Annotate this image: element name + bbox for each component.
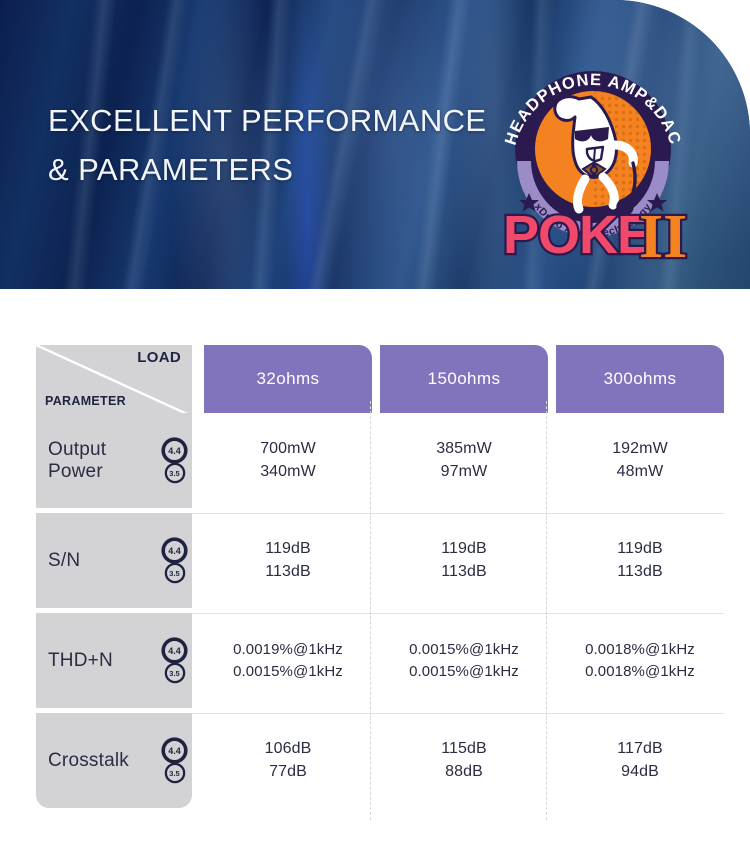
value-single-ended: 97mW bbox=[441, 463, 488, 481]
page-title: EXCELLENT PERFORMANCE & PARAMETERS bbox=[48, 96, 488, 194]
output-badges: 4.4 3.5 bbox=[163, 639, 186, 682]
corner-load-label: LOAD bbox=[137, 349, 181, 366]
value-single-ended: 0.0015%@1kHz bbox=[409, 663, 519, 680]
badge-3.5mm: 3.5 bbox=[166, 564, 184, 582]
cell-output-power-300ohms: 192mW 48mW bbox=[556, 413, 724, 508]
value-balanced: 192mW bbox=[612, 440, 668, 458]
row-label-thd-n: THD+N 4.4 3.5 bbox=[36, 613, 192, 708]
row-label-line-1: Output bbox=[48, 439, 106, 460]
value-single-ended: 340mW bbox=[260, 463, 316, 481]
logo-graphic: HEADPHONE AMP&DAC xDuoo Audio technology bbox=[487, 53, 699, 265]
table-row: Crosstalk 4.4 3.5 106dB 77dB 115dB 88dB … bbox=[36, 713, 724, 808]
column-header-150ohms: 150ohms bbox=[380, 345, 548, 413]
value-single-ended: 0.0015%@1kHz bbox=[233, 663, 343, 680]
cell-s-n-150ohms: 119dB 113dB bbox=[380, 513, 548, 608]
logo-wordmark-main: POKE bbox=[503, 205, 652, 265]
row-label-line-2: Power bbox=[48, 461, 103, 482]
value-balanced: 0.0019%@1kHz bbox=[233, 641, 343, 658]
cell-output-power-150ohms: 385mW 97mW bbox=[380, 413, 548, 508]
value-single-ended: 48mW bbox=[617, 463, 664, 481]
value-balanced: 0.0015%@1kHz bbox=[409, 641, 519, 658]
table-row: S/N 4.4 3.5 119dB 113dB 119dB 113dB 119d… bbox=[36, 513, 724, 608]
column-header-300ohms: 300ohms bbox=[556, 345, 724, 413]
specifications-table: LOAD PARAMETER 32ohms 150ohms 300ohms Ou… bbox=[36, 345, 724, 808]
output-badges: 4.4 3.5 bbox=[163, 539, 186, 582]
value-balanced: 385mW bbox=[436, 440, 492, 458]
row-label-crosstalk: Crosstalk 4.4 3.5 bbox=[36, 713, 192, 808]
value-balanced: 119dB bbox=[617, 540, 663, 558]
value-balanced: 115dB bbox=[441, 740, 487, 758]
corner-parameter-label: PARAMETER bbox=[45, 394, 126, 408]
value-single-ended: 94dB bbox=[621, 763, 659, 781]
badge-4.4mm: 4.4 bbox=[163, 539, 186, 562]
value-balanced: 0.0018%@1kHz bbox=[585, 641, 695, 658]
page-title-line-1: EXCELLENT PERFORMANCE bbox=[48, 96, 488, 145]
row-label-text: THD+N bbox=[48, 650, 161, 672]
badge-3.5mm: 3.5 bbox=[166, 664, 184, 682]
value-balanced: 106dB bbox=[265, 740, 312, 758]
row-label-s-n: S/N 4.4 3.5 bbox=[36, 513, 192, 608]
poke2-logo: HEADPHONE AMP&DAC xDuoo Audio technology bbox=[487, 53, 699, 265]
value-single-ended: 77dB bbox=[269, 763, 307, 781]
cell-s-n-32ohms: 119dB 113dB bbox=[204, 513, 372, 608]
value-balanced: 117dB bbox=[617, 740, 663, 758]
cell-output-power-32ohms: 700mW 340mW bbox=[204, 413, 372, 508]
table-row: THD+N 4.4 3.5 0.0019%@1kHz 0.0015%@1kHz … bbox=[36, 613, 724, 708]
cell-s-n-300ohms: 119dB 113dB bbox=[556, 513, 724, 608]
page-title-line-2: & PARAMETERS bbox=[48, 145, 488, 194]
value-single-ended: 113dB bbox=[441, 563, 487, 581]
row-label-text: Crosstalk bbox=[48, 750, 161, 772]
cell-crosstalk-300ohms: 117dB 94dB bbox=[556, 713, 724, 808]
output-badges: 4.4 3.5 bbox=[163, 739, 186, 782]
value-balanced: 119dB bbox=[441, 540, 487, 558]
cell-thd-n-300ohms: 0.0018%@1kHz 0.0018%@1kHz bbox=[556, 613, 724, 708]
table-corner-cell: LOAD PARAMETER bbox=[36, 345, 192, 413]
cell-thd-n-32ohms: 0.0019%@1kHz 0.0015%@1kHz bbox=[204, 613, 372, 708]
row-label-output-power: Output Power 4.4 3.5 bbox=[36, 413, 192, 508]
table-row: Output Power 4.4 3.5 700mW 340mW 385mW 9… bbox=[36, 413, 724, 508]
logo-wordmark-suffix: II bbox=[639, 203, 687, 271]
cell-crosstalk-150ohms: 115dB 88dB bbox=[380, 713, 548, 808]
cell-crosstalk-32ohms: 106dB 77dB bbox=[204, 713, 372, 808]
value-balanced: 119dB bbox=[265, 540, 311, 558]
value-balanced: 700mW bbox=[260, 440, 316, 458]
badge-3.5mm: 3.5 bbox=[166, 464, 184, 482]
table-header-row: LOAD PARAMETER 32ohms 150ohms 300ohms bbox=[36, 345, 724, 413]
badge-3.5mm: 3.5 bbox=[166, 764, 184, 782]
logo-wordmark: POKE II bbox=[503, 203, 687, 271]
badge-4.4mm: 4.4 bbox=[163, 439, 186, 462]
value-single-ended: 113dB bbox=[265, 563, 311, 581]
hero-banner: EXCELLENT PERFORMANCE & PARAMETERS bbox=[0, 0, 750, 289]
column-header-32ohms: 32ohms bbox=[204, 345, 372, 413]
value-single-ended: 113dB bbox=[617, 563, 663, 581]
output-badges: 4.4 3.5 bbox=[163, 439, 186, 482]
row-label-text: Output Power bbox=[48, 439, 161, 483]
badge-4.4mm: 4.4 bbox=[163, 739, 186, 762]
value-single-ended: 0.0018%@1kHz bbox=[585, 663, 695, 680]
cell-thd-n-150ohms: 0.0015%@1kHz 0.0015%@1kHz bbox=[380, 613, 548, 708]
page-root: EXCELLENT PERFORMANCE & PARAMETERS bbox=[0, 0, 750, 848]
badge-4.4mm: 4.4 bbox=[163, 639, 186, 662]
value-single-ended: 88dB bbox=[445, 763, 483, 781]
row-label-text: S/N bbox=[48, 550, 161, 572]
